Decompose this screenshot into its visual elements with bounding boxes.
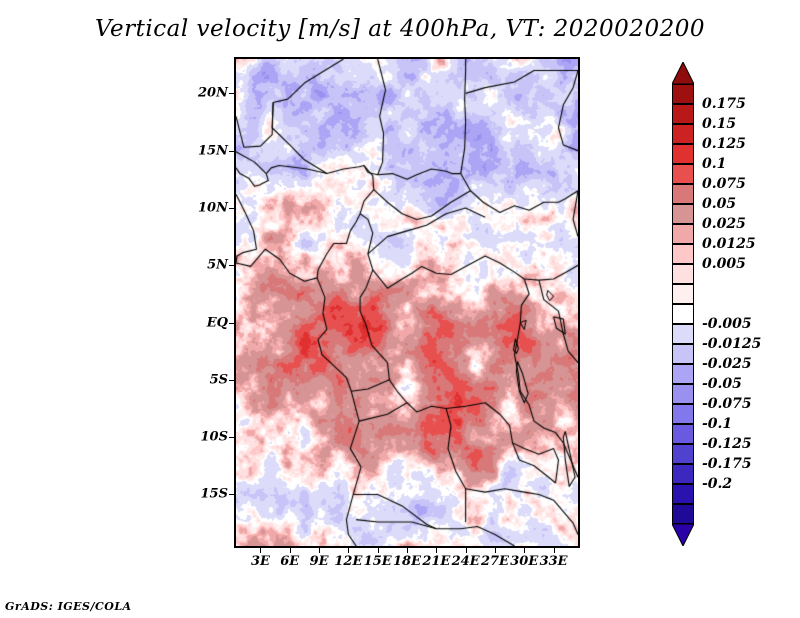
colorbar-tick-label: 0.15 xyxy=(702,116,736,132)
x-axis-tick xyxy=(466,546,467,553)
colorbar-swatch xyxy=(672,284,694,304)
y-axis-tick-label: 15N xyxy=(196,143,228,158)
colorbar-swatch xyxy=(672,344,694,364)
colorbar-tick-label: -0.0125 xyxy=(702,336,761,352)
page-title: Vertical velocity [m/s] at 400hPa, VT: 2… xyxy=(0,16,800,42)
x-axis-tick-label: 12E xyxy=(334,554,362,569)
colorbar-tick-label: -0.005 xyxy=(702,316,752,332)
x-axis-tick-label: 33E xyxy=(540,554,568,569)
colorbar-swatch xyxy=(672,504,694,524)
colorbar-swatch xyxy=(672,364,694,384)
colorbar-tick-label: -0.025 xyxy=(702,356,752,372)
colorbar-swatch xyxy=(672,484,694,504)
colorbar-tick-label: -0.075 xyxy=(702,396,752,412)
y-axis-tick xyxy=(229,494,236,495)
colorbar-arrow-bottom xyxy=(672,524,694,546)
x-axis-tick xyxy=(554,546,555,553)
y-axis-tick-label: 20N xyxy=(196,86,228,101)
colorbar-tick-label: 0.125 xyxy=(702,136,746,152)
x-axis-tick-label: 9E xyxy=(310,554,329,569)
y-axis-tick-label: 10N xyxy=(196,200,228,215)
map-plot-area xyxy=(234,57,580,548)
y-axis-tick xyxy=(229,323,236,324)
colorbar-tick-label: -0.2 xyxy=(702,476,732,492)
x-axis-tick xyxy=(260,546,261,553)
colorbar-swatch xyxy=(672,244,694,264)
colorbar-tick-label: -0.125 xyxy=(702,436,752,452)
x-axis-tick-label: 24E xyxy=(452,554,480,569)
colorbar-swatch xyxy=(672,324,694,344)
colorbar-swatch xyxy=(672,164,694,184)
colorbar-arrow-top xyxy=(672,62,694,84)
colorbar-swatch xyxy=(672,384,694,404)
colorbar-tick-label: 0.075 xyxy=(702,176,746,192)
y-axis-tick-label: 10S xyxy=(196,430,228,445)
x-axis-tick-label: 6E xyxy=(280,554,299,569)
colorbar-swatch xyxy=(672,224,694,244)
y-axis-tick xyxy=(229,93,236,94)
footer-credit: GrADS: IGES/COLA xyxy=(5,600,132,613)
colorbar-swatch xyxy=(672,104,694,124)
colorbar-tick-label: -0.1 xyxy=(702,416,732,432)
colorbar-tick-label: 0.0125 xyxy=(702,236,756,252)
vertical-velocity-heatmap xyxy=(236,59,578,546)
y-axis-tick xyxy=(229,265,236,266)
x-axis-tick-label: 18E xyxy=(393,554,421,569)
colorbar-swatch xyxy=(672,424,694,444)
x-axis-tick xyxy=(378,546,379,553)
colorbar-swatch xyxy=(672,184,694,204)
y-axis-tick xyxy=(229,208,236,209)
colorbar-swatch xyxy=(672,264,694,284)
colorbar-swatch xyxy=(672,464,694,484)
colorbar: 0.1750.150.1250.10.0750.050.0250.01250.0… xyxy=(672,62,694,546)
x-axis-tick-label: 30E xyxy=(510,554,538,569)
x-axis-tick xyxy=(319,546,320,553)
colorbar-swatch xyxy=(672,444,694,464)
x-axis-tick xyxy=(348,546,349,553)
x-axis-tick-label: 15E xyxy=(364,554,392,569)
colorbar-tick-label: 0.025 xyxy=(702,216,746,232)
x-axis-tick xyxy=(290,546,291,553)
colorbar-tick-label: 0.005 xyxy=(702,256,746,272)
x-axis-tick xyxy=(495,546,496,553)
colorbar-swatch xyxy=(672,124,694,144)
x-axis-tick xyxy=(436,546,437,553)
y-axis-tick xyxy=(229,151,236,152)
colorbar-swatch xyxy=(672,304,694,324)
colorbar-swatch xyxy=(672,404,694,424)
y-axis-tick xyxy=(229,437,236,438)
colorbar-tick-label: -0.05 xyxy=(702,376,742,392)
y-axis-tick xyxy=(229,380,236,381)
colorbar-tick-label: -0.175 xyxy=(702,456,752,472)
colorbar-tick-label: 0.05 xyxy=(702,196,736,212)
y-axis-tick-label: 5S xyxy=(196,372,228,387)
x-axis-tick-label: 3E xyxy=(251,554,270,569)
colorbar-tick-label: 0.175 xyxy=(702,96,746,112)
y-axis-tick-label: 15S xyxy=(196,487,228,502)
x-axis-tick xyxy=(524,546,525,553)
colorbar-tick-label: 0.1 xyxy=(702,156,726,172)
colorbar-swatch xyxy=(672,204,694,224)
colorbar-swatch xyxy=(672,84,694,104)
colorbar-swatch xyxy=(672,144,694,164)
x-axis-tick-label: 21E xyxy=(422,554,450,569)
x-axis-tick xyxy=(407,546,408,553)
x-axis-tick-label: 27E xyxy=(481,554,509,569)
y-axis-tick-label: 5N xyxy=(196,258,228,273)
y-axis-tick-label: EQ xyxy=(196,315,228,330)
